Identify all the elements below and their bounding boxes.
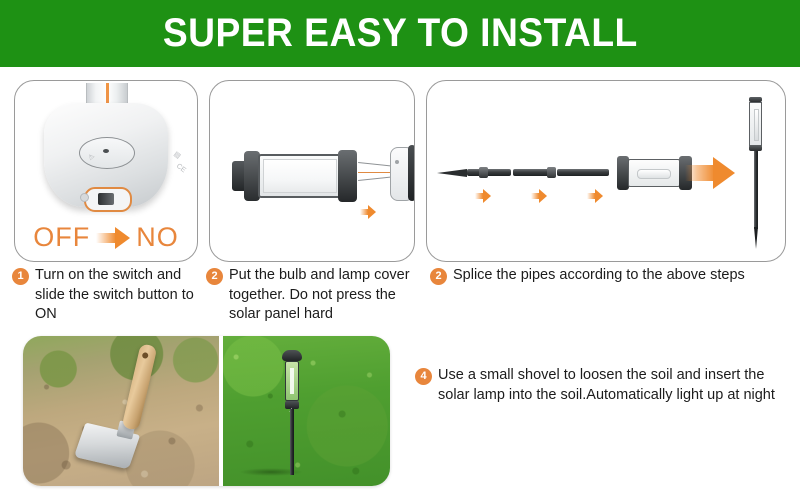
- step-badge-3: 2: [430, 268, 447, 285]
- pipe-segment-1: [467, 169, 511, 176]
- step-badge-2: 2: [206, 268, 223, 285]
- step-3-caption-text: Splice the pipes according to the above …: [453, 266, 745, 286]
- arrow-right-icon: [96, 227, 130, 249]
- step-1-illustration-panel: ⚠ ▤ CE OFF NO: [14, 80, 198, 262]
- lamp-cover-gasket: [408, 145, 415, 201]
- housing-marking-right-bottom: CE: [175, 163, 187, 175]
- bulb-glass-inner: [263, 159, 337, 193]
- step-2-illustration-panel: [209, 80, 415, 262]
- page-title: SUPER EASY TO INSTALL: [163, 11, 638, 56]
- pipe-joint-1: [479, 167, 488, 178]
- pipe-spike-tip: [437, 169, 467, 177]
- step-1-caption: 1 Turn on the switch and slide the switc…: [12, 266, 200, 325]
- lamp-filament: [637, 169, 671, 179]
- switch-knob[interactable]: [98, 193, 114, 205]
- solar-panel-sensor: [103, 149, 109, 153]
- step-4-caption: 4 Use a small shovel to loosen the soil …: [415, 366, 793, 405]
- indicator-led: [80, 193, 89, 202]
- pipe-splicing-illustration: [427, 81, 785, 261]
- assembled-lamp-horizontal: [617, 155, 693, 191]
- step-badge-1: 1: [12, 268, 29, 285]
- step-3-caption: 2 Splice the pipes according to the abov…: [430, 266, 790, 286]
- header-banner: SUPER EASY TO INSTALL: [0, 0, 800, 67]
- lamp-head-body: ⚠ ▤ CE: [44, 103, 168, 207]
- arrow-right-icon: [475, 189, 491, 203]
- final-lamp-stake: [754, 151, 758, 229]
- arrow-right-icon: [685, 157, 735, 189]
- photo-divider: [219, 336, 223, 486]
- installed-lamp-stake: [290, 409, 294, 475]
- step-2-caption: 2 Put the bulb and lamp cover together. …: [206, 266, 428, 325]
- step-4-photo-pair: ▲: [23, 336, 390, 486]
- solar-panel-ring: [79, 137, 135, 169]
- installed-lamp-glass: [285, 361, 299, 401]
- housing-marking-right-top: ▤: [172, 150, 182, 160]
- bulb-glass: [258, 154, 342, 198]
- arrow-right-icon: [531, 189, 547, 203]
- install-instructions-graphic: SUPER EASY TO INSTALL ⚠ ▤ CE OFF: [0, 0, 800, 494]
- step-3-illustration-panel: [426, 80, 786, 262]
- installed-lamp-filament: [290, 368, 294, 394]
- bulb-cover-illustration: [210, 81, 414, 261]
- final-assembled-lamp: [743, 97, 767, 249]
- switch-state-on-label: NO: [136, 222, 179, 253]
- shovel-hang-hole: [142, 352, 149, 359]
- installed-lamp-solar-panel: [282, 350, 302, 361]
- final-lamp-glass: [749, 102, 762, 146]
- off-to-on-label-row: OFF NO: [15, 222, 197, 253]
- shovel-soil-photo: [23, 336, 219, 486]
- step-4-caption-text: Use a small shovel to loosen the soil an…: [438, 366, 793, 405]
- lamp-glass: [628, 159, 680, 187]
- lamp-cover-contact: [395, 160, 399, 164]
- step-badge-4: 4: [415, 368, 432, 385]
- step-1-caption-text: Turn on the switch and slide the switch …: [35, 266, 200, 325]
- arrow-right-icon: [360, 205, 376, 219]
- bulb-assembly: [232, 149, 358, 203]
- final-lamp-spike: [754, 227, 758, 249]
- lamp-in-grass-photo: ▲: [219, 336, 390, 486]
- step-2-caption-text: Put the bulb and lamp cover together. Do…: [229, 266, 428, 325]
- pipe-segment-3: [557, 169, 609, 176]
- arrow-right-icon: [587, 189, 603, 203]
- power-switch[interactable]: [84, 187, 132, 212]
- installed-solar-lamp: ▲: [279, 350, 305, 478]
- switch-state-off-label: OFF: [33, 222, 90, 253]
- final-lamp-filament: [754, 109, 759, 141]
- pipe-joint-2: [547, 167, 556, 178]
- bulb-collar-right: [338, 150, 357, 202]
